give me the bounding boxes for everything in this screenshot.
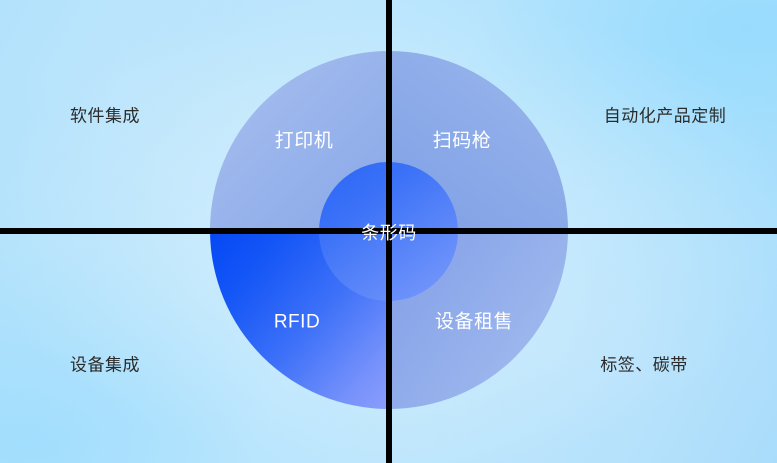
quadrant-label-bottom-right: 设备租售 — [435, 313, 513, 332]
quadrant-label-bottom-left: RFID — [274, 313, 320, 332]
quadrant-label-top-right: 扫码枪 — [433, 132, 492, 151]
corner-label-bottom-left: 设备集成 — [70, 357, 140, 374]
quadrant-label-top-left: 打印机 — [275, 132, 334, 151]
center-circle-label: 条形码 — [361, 224, 417, 242]
corner-label-top-right: 自动化产品定制 — [604, 108, 727, 125]
corner-label-bottom-right: 标签、碳带 — [600, 357, 688, 374]
diagram-canvas: 打印机 扫码枪 RFID 设备租售 条形码 软件集成 自动化产品定制 设备集成 … — [0, 0, 777, 463]
corner-label-top-left: 软件集成 — [70, 108, 140, 125]
